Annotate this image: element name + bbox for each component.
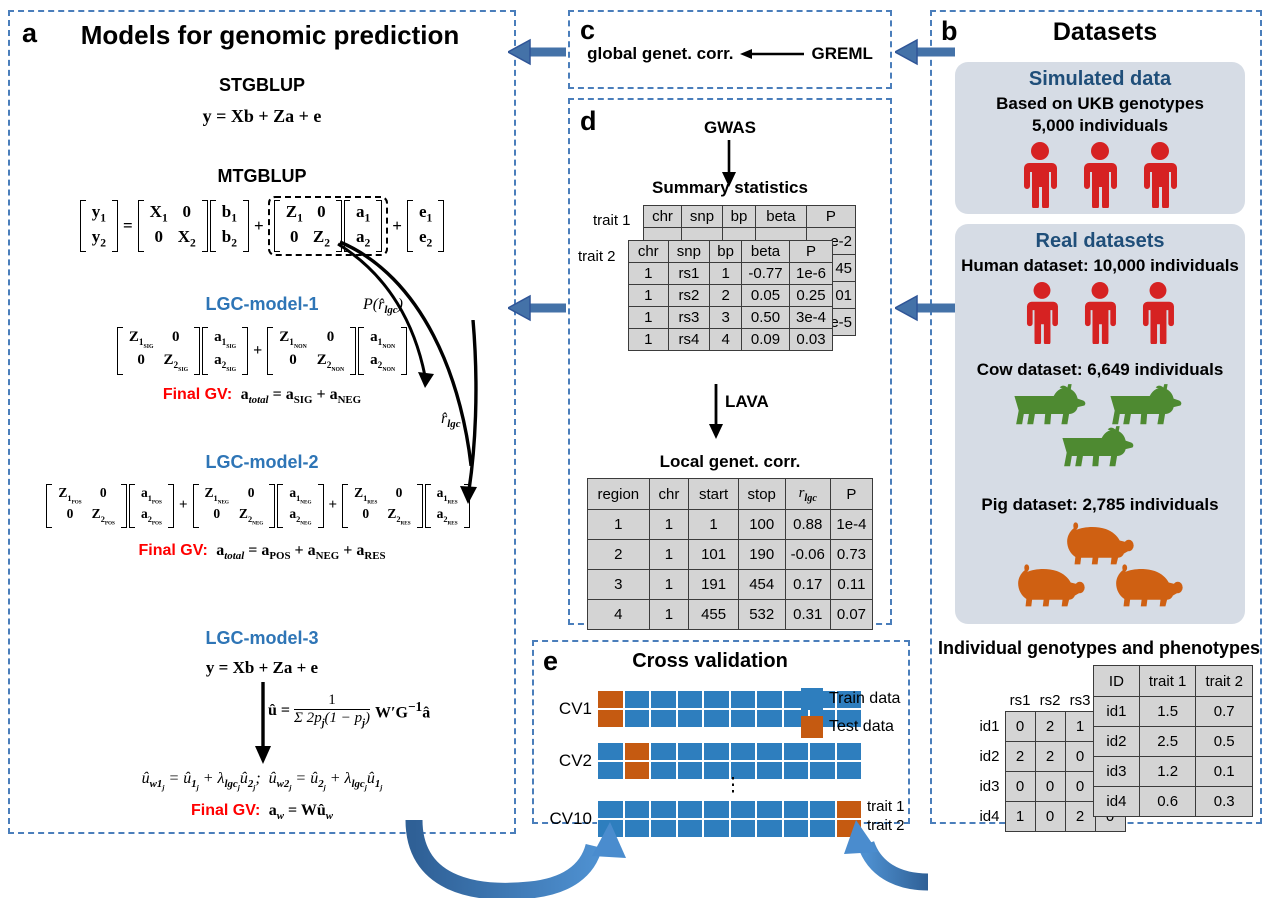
cv-cell — [703, 742, 730, 761]
cell: 0.07 — [830, 600, 872, 630]
cv-fold-label: CV2 — [532, 751, 592, 771]
cv-cell — [597, 709, 624, 728]
cell: 0.5 — [1196, 727, 1253, 757]
vector-b: b1b2 — [210, 200, 249, 252]
th-p: P — [830, 479, 872, 510]
pig-icon — [1057, 520, 1143, 566]
cv-cell — [783, 742, 810, 761]
arrow-c-to-a — [508, 37, 568, 67]
cv-cell — [624, 742, 651, 761]
local-genet-corr-title: Local genet. corr. — [568, 452, 892, 472]
cell: 1.5 — [1139, 697, 1196, 727]
weighted-u-formula: ûw1j = û1j + λlgcjû2j; ûw2j = û2j + λlgc… — [8, 770, 516, 792]
cv-cell — [730, 690, 757, 709]
cv-cell — [756, 800, 783, 819]
cv-cell — [703, 709, 730, 728]
table-row: id2 2.5 0.5 — [1094, 727, 1253, 757]
vector-a-non: a1NONa2NON — [358, 327, 407, 375]
cv-cell — [703, 690, 730, 709]
rlgc-label: r̂lgc — [441, 410, 461, 430]
cell: 1 — [649, 540, 689, 570]
cell: -0.06 — [785, 540, 830, 570]
th2-snp: snp — [668, 241, 710, 263]
table-row: id3 1.2 0.1 — [1094, 757, 1253, 787]
table-header-row: chr snp bp beta P — [629, 241, 833, 263]
cell: rs4 — [668, 329, 710, 351]
cell: 0.25 — [790, 285, 833, 307]
pheno-col-id: ID — [1094, 666, 1140, 697]
stgblup-heading: STGBLUP — [8, 75, 516, 96]
cv-cell — [677, 709, 704, 728]
panel-a-letter: a — [22, 20, 37, 47]
panel-b-title: Datasets — [960, 18, 1250, 47]
cv-cell — [597, 742, 624, 761]
row-label: id2 — [973, 742, 1005, 772]
geno-col-rs3: rs3 — [1065, 690, 1095, 712]
cell: 1 — [689, 510, 739, 540]
cv-cell — [756, 742, 783, 761]
cv-trait-label: trait 1 — [867, 798, 905, 815]
global-genet-corr-label: global genet. corr. — [587, 44, 733, 64]
cv-ellipsis: ⋮ — [724, 776, 743, 795]
person-icon — [1019, 142, 1061, 208]
cell: 1 — [1065, 712, 1095, 742]
cell: 1e-4 — [830, 510, 872, 540]
cell: 1 — [649, 600, 689, 630]
final-gv-label-1: Final GV: — [163, 386, 232, 403]
legend-swatch-test — [801, 716, 823, 738]
cv-legend: Train data Test data — [801, 688, 900, 738]
th-beta: beta — [756, 206, 807, 228]
panel-c-letter: c — [580, 17, 595, 44]
vector-a-neg: a1NEGa2NEG — [277, 484, 323, 528]
cv-cell — [756, 690, 783, 709]
cell: 0.6 — [1139, 787, 1196, 817]
cell: 190 — [738, 540, 785, 570]
cell: 2.5 — [1139, 727, 1196, 757]
cv-cell — [730, 742, 757, 761]
person-icon — [1022, 282, 1062, 344]
local-genet-corr-table: region chr start stop rlgc P 1 1 1 100 0… — [587, 478, 873, 630]
table-header-row: ID trait 1 trait 2 — [1094, 666, 1253, 697]
cell: 1 — [629, 285, 669, 307]
row-label: id3 — [973, 772, 1005, 802]
cell: 1 — [629, 307, 669, 329]
matrix-Z-res: Z1RES00Z2RES — [342, 484, 423, 528]
cell: 0.50 — [742, 307, 790, 329]
table-header-row: chr snp bp beta P — [644, 206, 856, 228]
cell: id4 — [1094, 787, 1140, 817]
table-row: 1 rs3 3 0.50 3e-4 — [629, 307, 833, 329]
cv-cell — [650, 709, 677, 728]
pig-icons — [955, 520, 1245, 620]
cell: 100 — [738, 510, 785, 540]
lgc-model-1-equation: Z1SIG00Z2SIG a1SIGa2SIG + Z1NON00Z2NON a… — [8, 327, 516, 375]
th-stop: stop — [738, 479, 785, 510]
pheno-col-trait2: trait 2 — [1196, 666, 1253, 697]
table-row: 3 1 191 454 0.17 0.11 — [588, 570, 873, 600]
cell: 0.73 — [830, 540, 872, 570]
cell: 1 — [710, 263, 742, 285]
cell: 0.1 — [1196, 757, 1253, 787]
person-icon — [1139, 142, 1181, 208]
legend-swatch-train — [801, 688, 823, 710]
table-row: 4 1 455 532 0.31 0.07 — [588, 600, 873, 630]
simulated-data-line1: Based on UKB genotypes — [955, 94, 1245, 114]
cv-cell — [624, 709, 651, 728]
table-row: 1 1 1 100 0.88 1e-4 — [588, 510, 873, 540]
matrix-Z-neg: Z1NEG00Z2NEG — [193, 484, 276, 528]
cv-cell — [809, 742, 836, 761]
cv-cell — [703, 800, 730, 819]
cow-icon — [1107, 384, 1189, 432]
cell: 0.7 — [1196, 697, 1253, 727]
cv-cell — [677, 690, 704, 709]
cell: 532 — [738, 600, 785, 630]
th-chr: chr — [644, 206, 682, 228]
lgc-model-3-equation: y = Xb + Za + e — [8, 658, 516, 678]
th2-bp: bp — [710, 241, 742, 263]
gwas-label: GWAS — [568, 118, 892, 138]
pheno-col-trait1: trait 1 — [1139, 666, 1196, 697]
th2-beta: beta — [742, 241, 790, 263]
vector-a-pos: a1POSa2POS — [129, 484, 174, 528]
row-label: id4 — [973, 802, 1005, 832]
cell: 101 — [689, 540, 739, 570]
cow-dataset-label: Cow dataset: 6,649 individuals — [945, 360, 1255, 380]
cell: 0 — [1035, 772, 1065, 802]
cell: 0.3 — [1196, 787, 1253, 817]
cv-cell — [836, 761, 863, 780]
table-header-row: region chr start stop rlgc P — [588, 479, 873, 510]
cell: 1 — [649, 570, 689, 600]
cell: 1 — [629, 329, 669, 351]
cv-cell — [836, 742, 863, 761]
cv-cell — [730, 709, 757, 728]
cell: 3 — [588, 570, 650, 600]
cv-cell — [677, 761, 704, 780]
legend-label-test: Test data — [829, 718, 894, 736]
cell: 1 — [649, 510, 689, 540]
cow-icons — [955, 384, 1245, 486]
geno-pheno-title: Individual genotypes and phenotypes — [938, 638, 1260, 659]
cv-cell — [597, 761, 624, 780]
cell: 0.03 — [790, 329, 833, 351]
cv-cell — [624, 800, 651, 819]
cell: 0 — [1005, 772, 1035, 802]
cv-cell — [783, 761, 810, 780]
table-row: 1 rs1 1 -0.77 1e-6 — [629, 263, 833, 285]
cv-cell — [730, 800, 757, 819]
trait2-label: trait 2 — [578, 248, 616, 265]
table-row: 1 rs2 2 0.05 0.25 — [629, 285, 833, 307]
person-icon — [1079, 142, 1121, 208]
cow-icon — [1059, 426, 1141, 474]
cell: 0.88 — [785, 510, 830, 540]
cell: 2 — [588, 540, 650, 570]
cell: 0.05 — [742, 285, 790, 307]
cv-cell — [677, 800, 704, 819]
cell: 2 — [1035, 712, 1065, 742]
vector-a-res: a1RESa2RES — [425, 484, 470, 528]
cv-cell — [809, 761, 836, 780]
th-snp: snp — [681, 206, 722, 228]
greml-label: GREML — [812, 44, 873, 64]
lgc-model-1-heading: LGC-model-1 — [8, 294, 516, 315]
cell: 454 — [738, 570, 785, 600]
panel-a-title: Models for genomic prediction — [50, 20, 490, 51]
simulated-data-line2: 5,000 individuals — [955, 116, 1245, 136]
lgc-model-2-equation: Z1POS00Z2POS a1POSa2POS + Z1NEG00Z2NEG a… — [0, 484, 516, 528]
person-icon — [1138, 282, 1178, 344]
stgblup-equation: y = Xb + Za + e — [8, 106, 516, 127]
matrix-Z-non: Z1NON00Z2NON — [267, 327, 356, 375]
panel-c-content: global genet. corr. GREML — [568, 44, 892, 64]
lava-label: LAVA — [725, 392, 769, 412]
cv-cell — [677, 742, 704, 761]
th-bp: bp — [722, 206, 755, 228]
cell: 0.17 — [785, 570, 830, 600]
cell: 2 — [1065, 802, 1095, 832]
cell: rs1 — [668, 263, 710, 285]
human-people-icons — [955, 280, 1245, 346]
cell: 0.11 — [830, 570, 872, 600]
cell: 0 — [1035, 802, 1065, 832]
arrow-d-to-a — [508, 293, 568, 323]
cell: 1 — [1005, 802, 1035, 832]
cell: 1e-6 — [790, 263, 833, 285]
lgc-model-2-heading: LGC-model-2 — [8, 452, 516, 473]
final-gv-label-2: Final GV: — [138, 542, 207, 559]
cv-cell — [650, 742, 677, 761]
cell: 2 — [1005, 742, 1035, 772]
u-hat-formula: û = 1 Σ 2pj(1 − pj) W′G−1â — [268, 692, 430, 729]
th-p: P — [806, 206, 855, 228]
left-arrow-icon — [740, 46, 806, 62]
cv-cell — [624, 690, 651, 709]
cell: 0.09 — [742, 329, 790, 351]
th-chr: chr — [649, 479, 689, 510]
arrow-b-to-d — [895, 293, 955, 323]
cell: 3 — [710, 307, 742, 329]
cv-cell — [624, 761, 651, 780]
th-start: start — [689, 479, 739, 510]
cell: 191 — [689, 570, 739, 600]
pig-icon — [1008, 562, 1094, 608]
cell: 0 — [1005, 712, 1035, 742]
cell: id2 — [1094, 727, 1140, 757]
matrix-X: X100X2 — [138, 200, 208, 252]
th-region: region — [588, 479, 650, 510]
cell: rs2 — [668, 285, 710, 307]
pig-dataset-label: Pig dataset: 2,785 individuals — [945, 495, 1255, 515]
geno-col-rs1: rs1 — [1005, 690, 1035, 712]
cv-cell — [597, 800, 624, 819]
cv-cell — [756, 761, 783, 780]
row-label: id1 — [973, 712, 1005, 742]
arrow-b-to-c — [895, 37, 955, 67]
real-datasets-title: Real datasets — [955, 230, 1245, 253]
matrix-Z-pos: Z1POS00Z2POS — [46, 484, 127, 528]
simulated-data-title: Simulated data — [955, 68, 1245, 91]
simulated-people-icons — [955, 140, 1245, 210]
curved-arrow-right — [810, 820, 930, 898]
cell: 2 — [710, 285, 742, 307]
lgc-model-3-heading: LGC-model-3 — [8, 628, 516, 649]
final-gv-label-3: Final GV: — [191, 802, 260, 819]
pig-icon — [1106, 562, 1192, 608]
cv-cell — [650, 690, 677, 709]
table-row: 2 1 101 190 -0.06 0.73 — [588, 540, 873, 570]
panel-e-letter: e — [543, 648, 558, 675]
cell: id1 — [1094, 697, 1140, 727]
matrix-Z-sig: Z1SIG00Z2SIG — [117, 327, 200, 375]
vector-a-sig: a1SIGa2SIG — [202, 327, 248, 375]
panel-e-title: Cross validation — [560, 650, 860, 673]
cell: 4 — [710, 329, 742, 351]
cell: 455 — [689, 600, 739, 630]
human-dataset-label: Human dataset: 10,000 individuals — [945, 256, 1255, 276]
table-row: 1 rs4 4 0.09 0.03 — [629, 329, 833, 351]
geno-col-rs2: rs2 — [1035, 690, 1065, 712]
vector-y: y1y2 — [80, 200, 118, 252]
cell: 1 — [629, 263, 669, 285]
cv-cell — [650, 800, 677, 819]
cv-fold-label: CV1 — [532, 699, 592, 719]
cv-cell — [836, 800, 863, 819]
cell: 2 — [1035, 742, 1065, 772]
th2-chr: chr — [629, 241, 669, 263]
cv-cell — [597, 690, 624, 709]
cell: 0 — [1065, 742, 1095, 772]
cell: 1.2 — [1139, 757, 1196, 787]
cv-cell — [783, 800, 810, 819]
table-row: id1 1.5 0.7 — [1094, 697, 1253, 727]
cell: 1 — [588, 510, 650, 540]
person-icon — [1080, 282, 1120, 344]
trait1-label: trait 1 — [593, 212, 631, 229]
cv-cell — [809, 800, 836, 819]
summary-statistics-title: Summary statistics — [568, 178, 892, 198]
lgc-model-2-final-gv: Final GV: atotal = aPOS + aNEG + aRES — [8, 542, 516, 562]
cell: rs3 — [668, 307, 710, 329]
legend-label-train: Train data — [829, 690, 900, 708]
cell: 0.31 — [785, 600, 830, 630]
cell: 4 — [588, 600, 650, 630]
sumstat-table-trait2: chr snp bp beta P 1 rs1 1 -0.77 1e-6 1 r… — [628, 240, 833, 351]
th-rlgc: rlgc — [785, 479, 830, 510]
mtgblup-heading: MTGBLUP — [8, 166, 516, 187]
cell: -0.77 — [742, 263, 790, 285]
cell: id3 — [1094, 757, 1140, 787]
cell: 3e-4 — [790, 307, 833, 329]
th2-p: P — [790, 241, 833, 263]
cv-cell — [650, 761, 677, 780]
lgc-model-1-final-gv: Final GV: atotal = aSIG + aNEG — [8, 386, 516, 406]
cv-cell — [756, 709, 783, 728]
cell: 0 — [1065, 772, 1095, 802]
table-row: id4 0.6 0.3 — [1094, 787, 1253, 817]
phenotype-table: ID trait 1 trait 2 id1 1.5 0.7 id2 2.5 0… — [1093, 665, 1253, 817]
cow-icon — [1011, 384, 1093, 432]
